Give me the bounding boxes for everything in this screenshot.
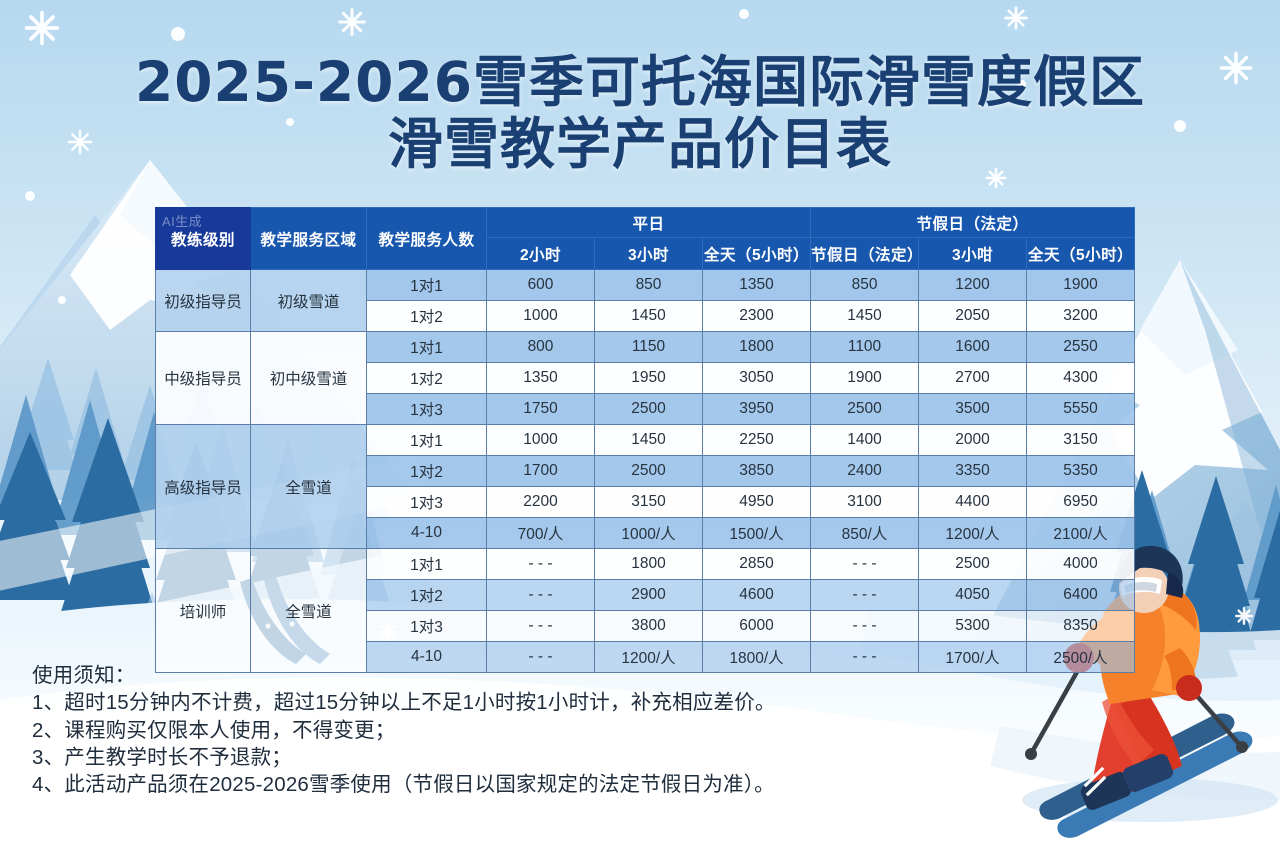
title-line-2: 滑雪教学产品价目表 bbox=[0, 114, 1280, 176]
cell-price: 2300 bbox=[703, 301, 811, 332]
cell-price: 1950 bbox=[595, 363, 703, 394]
cell-service-count: 1对1 bbox=[367, 270, 487, 301]
cell-price: 4950 bbox=[703, 487, 811, 518]
cell-price: 3500 bbox=[919, 394, 1027, 425]
cell-price: 1000 bbox=[487, 425, 595, 456]
cell-price: 5550 bbox=[1027, 394, 1135, 425]
cell-price: 3850 bbox=[703, 456, 811, 487]
cell-price: - - - bbox=[811, 611, 919, 642]
cell-coach-level: 中级指导员 bbox=[156, 332, 251, 425]
cell-price: 1400 bbox=[811, 425, 919, 456]
cell-price: 1450 bbox=[595, 301, 703, 332]
price-table-container: AI生成 教练级别 教学服务区域 教学服务人数 平日 节假日（法定） 2小时 3… bbox=[155, 207, 1135, 673]
cell-price: 1450 bbox=[595, 425, 703, 456]
cell-price: 4400 bbox=[919, 487, 1027, 518]
cell-price: 800 bbox=[487, 332, 595, 363]
subheader-holiday-2h: 节假日（法定） bbox=[811, 238, 919, 270]
cell-price: 1000/人 bbox=[595, 518, 703, 549]
note-item-1: 1、超时15分钟内不计费，超过15分钟以上不足1小时按1小时计，补充相应差价。 bbox=[32, 689, 776, 716]
cell-coach-level: 培训师 bbox=[156, 549, 251, 673]
cell-price: 1100 bbox=[811, 332, 919, 363]
header-service-count: 教学服务人数 bbox=[367, 208, 487, 270]
page-title: 2025-2026雪季可托海国际滑雪度假区 滑雪教学产品价目表 bbox=[0, 52, 1280, 175]
cell-price: - - - bbox=[811, 580, 919, 611]
cell-price: - - - bbox=[487, 580, 595, 611]
cell-price: 1350 bbox=[487, 363, 595, 394]
note-item-2: 2、课程购买仅限本人使用，不得变更； bbox=[32, 717, 776, 744]
table-body: 初级指导员初级雪道1对16008501350850120019001对21000… bbox=[156, 270, 1135, 673]
header-weekday-group: 平日 bbox=[487, 208, 811, 238]
snow-dot bbox=[739, 9, 749, 19]
cell-price: 2500 bbox=[811, 394, 919, 425]
subheader-weekday-2h: 2小时 bbox=[487, 238, 595, 270]
cell-price: 3150 bbox=[1027, 425, 1135, 456]
cell-price: 1900 bbox=[1027, 270, 1135, 301]
cell-service-count: 1对3 bbox=[367, 394, 487, 425]
cell-price: 1450 bbox=[811, 301, 919, 332]
snowflake-icon bbox=[1236, 608, 1252, 624]
cell-price: 5300 bbox=[919, 611, 1027, 642]
title-line-1: 2025-2026雪季可托海国际滑雪度假区 bbox=[0, 52, 1280, 114]
subheader-weekday-3h: 3小时 bbox=[595, 238, 703, 270]
cell-price: 1200/人 bbox=[919, 518, 1027, 549]
subheader-holiday-3h: 3小咁 bbox=[919, 238, 1027, 270]
snowflake-icon bbox=[1006, 8, 1027, 29]
cell-price: 2400 bbox=[811, 456, 919, 487]
note-item-3: 3、产生教学时长不予退款； bbox=[32, 744, 776, 771]
ai-watermark: AI生成 bbox=[162, 211, 202, 230]
table-row: 高级指导员全雪道1对1100014502250140020003150 bbox=[156, 425, 1135, 456]
cell-service-count: 4-10 bbox=[367, 518, 487, 549]
snow-dot bbox=[171, 27, 185, 41]
cell-price: 3100 bbox=[811, 487, 919, 518]
subheader-holiday-allday: 全天（5小时） bbox=[1027, 238, 1135, 270]
cell-service-count: 1对1 bbox=[367, 332, 487, 363]
table-header: AI生成 教练级别 教学服务区域 教学服务人数 平日 节假日（法定） 2小时 3… bbox=[156, 208, 1135, 270]
cell-service-count: 1对2 bbox=[367, 456, 487, 487]
cell-price: 2050 bbox=[919, 301, 1027, 332]
cell-price: 600 bbox=[487, 270, 595, 301]
cell-price: 2550 bbox=[1027, 332, 1135, 363]
cell-price: 2200 bbox=[487, 487, 595, 518]
cell-price: 2500 bbox=[595, 456, 703, 487]
notes-heading: 使用须知： bbox=[32, 662, 776, 689]
cell-price: - - - bbox=[487, 611, 595, 642]
cell-price: 850 bbox=[811, 270, 919, 301]
cell-price: 1900 bbox=[811, 363, 919, 394]
cell-price: 3200 bbox=[1027, 301, 1135, 332]
cell-price: 3800 bbox=[595, 611, 703, 642]
cell-service-count: 1对2 bbox=[367, 301, 487, 332]
cell-price: 3150 bbox=[595, 487, 703, 518]
table-row: 培训师全雪道1对1- - -18002850- - -25004000 bbox=[156, 549, 1135, 580]
cell-price: 2000 bbox=[919, 425, 1027, 456]
cell-service-count: 1对3 bbox=[367, 487, 487, 518]
cell-price: 700/人 bbox=[487, 518, 595, 549]
cell-price: 1150 bbox=[595, 332, 703, 363]
cell-price: 2500 bbox=[595, 394, 703, 425]
header-row-top: AI生成 教练级别 教学服务区域 教学服务人数 平日 节假日（法定） bbox=[156, 208, 1135, 238]
cell-price: 8350 bbox=[1027, 611, 1135, 642]
cell-price: 1700 bbox=[487, 456, 595, 487]
price-table: AI生成 教练级别 教学服务区域 教学服务人数 平日 节假日（法定） 2小时 3… bbox=[155, 207, 1135, 673]
cell-price: 1800 bbox=[703, 332, 811, 363]
cell-price: 3950 bbox=[703, 394, 811, 425]
cell-price: 1700/人 bbox=[919, 642, 1027, 673]
cell-service-count: 1对2 bbox=[367, 363, 487, 394]
cell-price: 6950 bbox=[1027, 487, 1135, 518]
snowflake-icon bbox=[340, 10, 365, 35]
header-coach-level-label: 教练级别 bbox=[171, 232, 235, 249]
cell-price: 1500/人 bbox=[703, 518, 811, 549]
cell-price: 2250 bbox=[703, 425, 811, 456]
cell-price: 1350 bbox=[703, 270, 811, 301]
cell-service-area: 初级雪道 bbox=[251, 270, 367, 332]
cell-coach-level: 高级指导员 bbox=[156, 425, 251, 549]
cell-price: 2900 bbox=[595, 580, 703, 611]
usage-notes: 使用须知： 1、超时15分钟内不计费，超过15分钟以上不足1小时按1小时计，补充… bbox=[32, 662, 776, 798]
cell-price: 1800 bbox=[595, 549, 703, 580]
cell-price: 2500 bbox=[919, 549, 1027, 580]
cell-price: - - - bbox=[811, 549, 919, 580]
cell-price: 4600 bbox=[703, 580, 811, 611]
cell-service-area: 全雪道 bbox=[251, 425, 367, 549]
snow-dot bbox=[25, 191, 35, 201]
cell-price: - - - bbox=[487, 549, 595, 580]
cell-price: 6000 bbox=[703, 611, 811, 642]
cell-coach-level: 初级指导员 bbox=[156, 270, 251, 332]
header-holiday-group: 节假日（法定） bbox=[811, 208, 1135, 238]
cell-price: 4000 bbox=[1027, 549, 1135, 580]
cell-price: 3050 bbox=[703, 363, 811, 394]
cell-price: 5350 bbox=[1027, 456, 1135, 487]
cell-price: - - - bbox=[811, 642, 919, 673]
cell-price: 2700 bbox=[919, 363, 1027, 394]
cell-price: 850/人 bbox=[811, 518, 919, 549]
cell-service-area: 初中级雪道 bbox=[251, 332, 367, 425]
header-service-area: 教学服务区域 bbox=[251, 208, 367, 270]
cell-price: 2100/人 bbox=[1027, 518, 1135, 549]
cell-service-count: 1对1 bbox=[367, 549, 487, 580]
header-coach-level: AI生成 教练级别 bbox=[156, 208, 251, 270]
subheader-weekday-allday: 全天（5小时） bbox=[703, 238, 811, 270]
snowflake-icon bbox=[27, 13, 58, 44]
cell-price: 1750 bbox=[487, 394, 595, 425]
cell-price: 3350 bbox=[919, 456, 1027, 487]
table-row: 中级指导员初中级雪道1对180011501800110016002550 bbox=[156, 332, 1135, 363]
note-item-4: 4、此活动产品须在2025-2026雪季使用（节假日以国家规定的法定节假日为准）… bbox=[32, 771, 776, 798]
cell-price: 6400 bbox=[1027, 580, 1135, 611]
cell-price: 1600 bbox=[919, 332, 1027, 363]
cell-price: 2850 bbox=[703, 549, 811, 580]
cell-price: 4300 bbox=[1027, 363, 1135, 394]
cell-price: 4050 bbox=[919, 580, 1027, 611]
cell-price: 1200 bbox=[919, 270, 1027, 301]
cell-price: 2500/人 bbox=[1027, 642, 1135, 673]
snow-dot bbox=[58, 296, 66, 304]
cell-price: 1000 bbox=[487, 301, 595, 332]
cell-service-count: 1对1 bbox=[367, 425, 487, 456]
cell-service-count: 1对2 bbox=[367, 580, 487, 611]
cell-service-area: 全雪道 bbox=[251, 549, 367, 673]
table-row: 初级指导员初级雪道1对1600850135085012001900 bbox=[156, 270, 1135, 301]
cell-service-count: 1对3 bbox=[367, 611, 487, 642]
cell-price: 850 bbox=[595, 270, 703, 301]
